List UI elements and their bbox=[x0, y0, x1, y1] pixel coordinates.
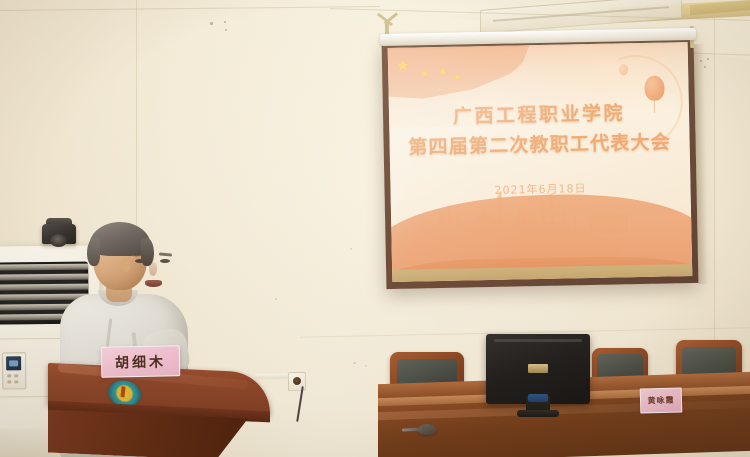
star-icon: ★ bbox=[421, 71, 428, 79]
eyebrow bbox=[159, 252, 172, 256]
slide-title-block: 广西工程职业学院 第四届第二次教职工代表大会 bbox=[389, 98, 690, 163]
air-conditioner-display bbox=[6, 356, 21, 370]
ac-button[interactable] bbox=[7, 380, 11, 383]
cable-clip bbox=[528, 394, 548, 402]
projection-screen-surface: ★ ★ ★ ★ 广西工程职业学院 第四届第二次教职工代表大会 2021年6月18… bbox=[388, 42, 693, 282]
monitor-badge bbox=[528, 364, 548, 373]
star-icon: ★ bbox=[454, 75, 460, 82]
wall-mark bbox=[210, 22, 213, 25]
air-conditioner-control-panel[interactable] bbox=[2, 352, 26, 389]
star-icon: ★ bbox=[397, 59, 409, 72]
wall-mark bbox=[225, 29, 227, 31]
wall-mark bbox=[365, 365, 367, 367]
star-icon: ★ bbox=[439, 68, 446, 76]
ac-button[interactable] bbox=[7, 374, 11, 377]
slide-title-line-2: 第四届第二次教职工代表大会 bbox=[389, 128, 690, 163]
monitor-foot bbox=[517, 410, 559, 417]
socket-hole bbox=[293, 377, 301, 385]
conference-table: 黄咏霞 bbox=[378, 336, 750, 457]
podium-nameplate-text: 胡细木 bbox=[115, 351, 166, 372]
ac-button[interactable] bbox=[14, 374, 18, 377]
podium-nameplate: 胡细木 bbox=[101, 345, 181, 378]
ear bbox=[122, 258, 130, 272]
speaker-podium: 胡细木 bbox=[48, 368, 270, 457]
presenter-hair-side bbox=[141, 238, 154, 266]
hot-air-balloon-icon bbox=[644, 75, 664, 100]
presentation-slide: ★ ★ ★ ★ 广西工程职业学院 第四届第二次教职工代表大会 2021年6月18… bbox=[388, 42, 693, 282]
wall-seam-vertical bbox=[136, 0, 137, 230]
wall-mark bbox=[350, 248, 352, 250]
projection-screen: ★ ★ ★ ★ 广西工程职业学院 第四届第二次教职工代表大会 2021年6月18… bbox=[382, 37, 699, 289]
presenter-hair-side bbox=[87, 238, 100, 266]
wall-mark bbox=[224, 21, 226, 23]
table-nameplate: 黄咏霞 bbox=[640, 387, 683, 413]
eye bbox=[160, 259, 170, 263]
wall-mark bbox=[704, 66, 706, 68]
conference-room-photo: ★ ★ ★ ★ 广西工程职业学院 第四届第二次教职工代表大会 2021年6月18… bbox=[0, 0, 750, 457]
mouth bbox=[145, 280, 162, 287]
wall-mark bbox=[353, 362, 356, 364]
table-nameplate-text: 黄咏霞 bbox=[647, 395, 674, 407]
wall-seam-vertical bbox=[714, 18, 715, 348]
ac-button[interactable] bbox=[14, 380, 18, 383]
wall-mark bbox=[275, 298, 277, 300]
monitor-vent bbox=[494, 339, 582, 342]
wall-mark bbox=[707, 58, 709, 60]
